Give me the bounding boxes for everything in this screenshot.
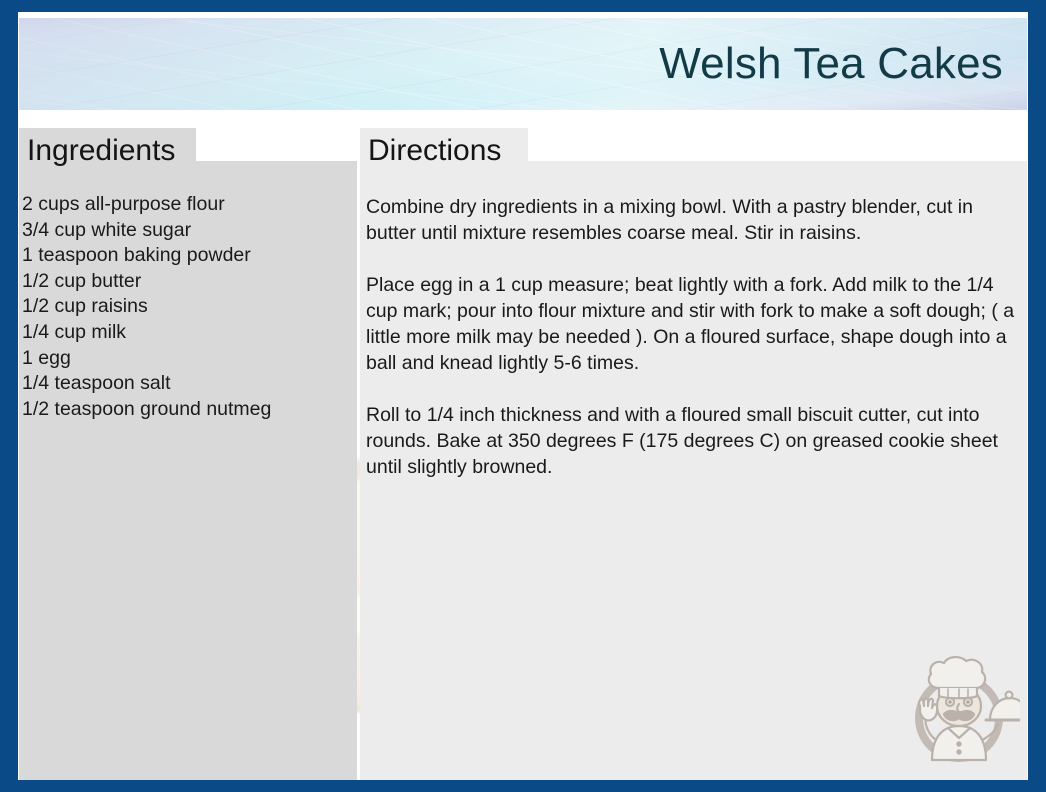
list-item: 1/2 teaspoon ground nutmeg: [22, 397, 352, 423]
directions-paragraph: Combine dry ingredients in a mixing bowl…: [366, 194, 1018, 246]
list-item: 1 egg: [22, 346, 352, 372]
ingredients-heading: Ingredients: [27, 136, 175, 166]
directions-paragraph: Roll to 1/4 inch thickness and with a fl…: [366, 402, 1018, 480]
list-item: 1 teaspoon baking powder: [22, 243, 352, 269]
list-item: 2 cups all-purpose flour: [22, 192, 352, 218]
directions-paragraph: Place egg in a 1 cup measure; beat light…: [366, 272, 1018, 376]
list-item: 1/2 cup butter: [22, 269, 352, 295]
directions-body: Combine dry ingredients in a mixing bowl…: [366, 194, 1018, 480]
page-title: Welsh Tea Cakes: [659, 42, 1003, 86]
directions-heading-tab: Directions: [360, 128, 528, 174]
list-item: 3/4 cup white sugar: [22, 218, 352, 244]
ingredients-heading-tab: Ingredients: [19, 128, 196, 174]
recipe-card-slide: Welsh Tea Cakes: [0, 0, 1046, 792]
list-item: 1/2 cup raisins: [22, 294, 352, 320]
header-banner: Welsh Tea Cakes: [19, 18, 1027, 110]
list-item: 1/4 teaspoon salt: [22, 371, 352, 397]
ingredients-list: 2 cups all-purpose flour 3/4 cup white s…: [22, 192, 352, 422]
list-item: 1/4 cup milk: [22, 320, 352, 346]
directions-heading: Directions: [368, 136, 501, 166]
